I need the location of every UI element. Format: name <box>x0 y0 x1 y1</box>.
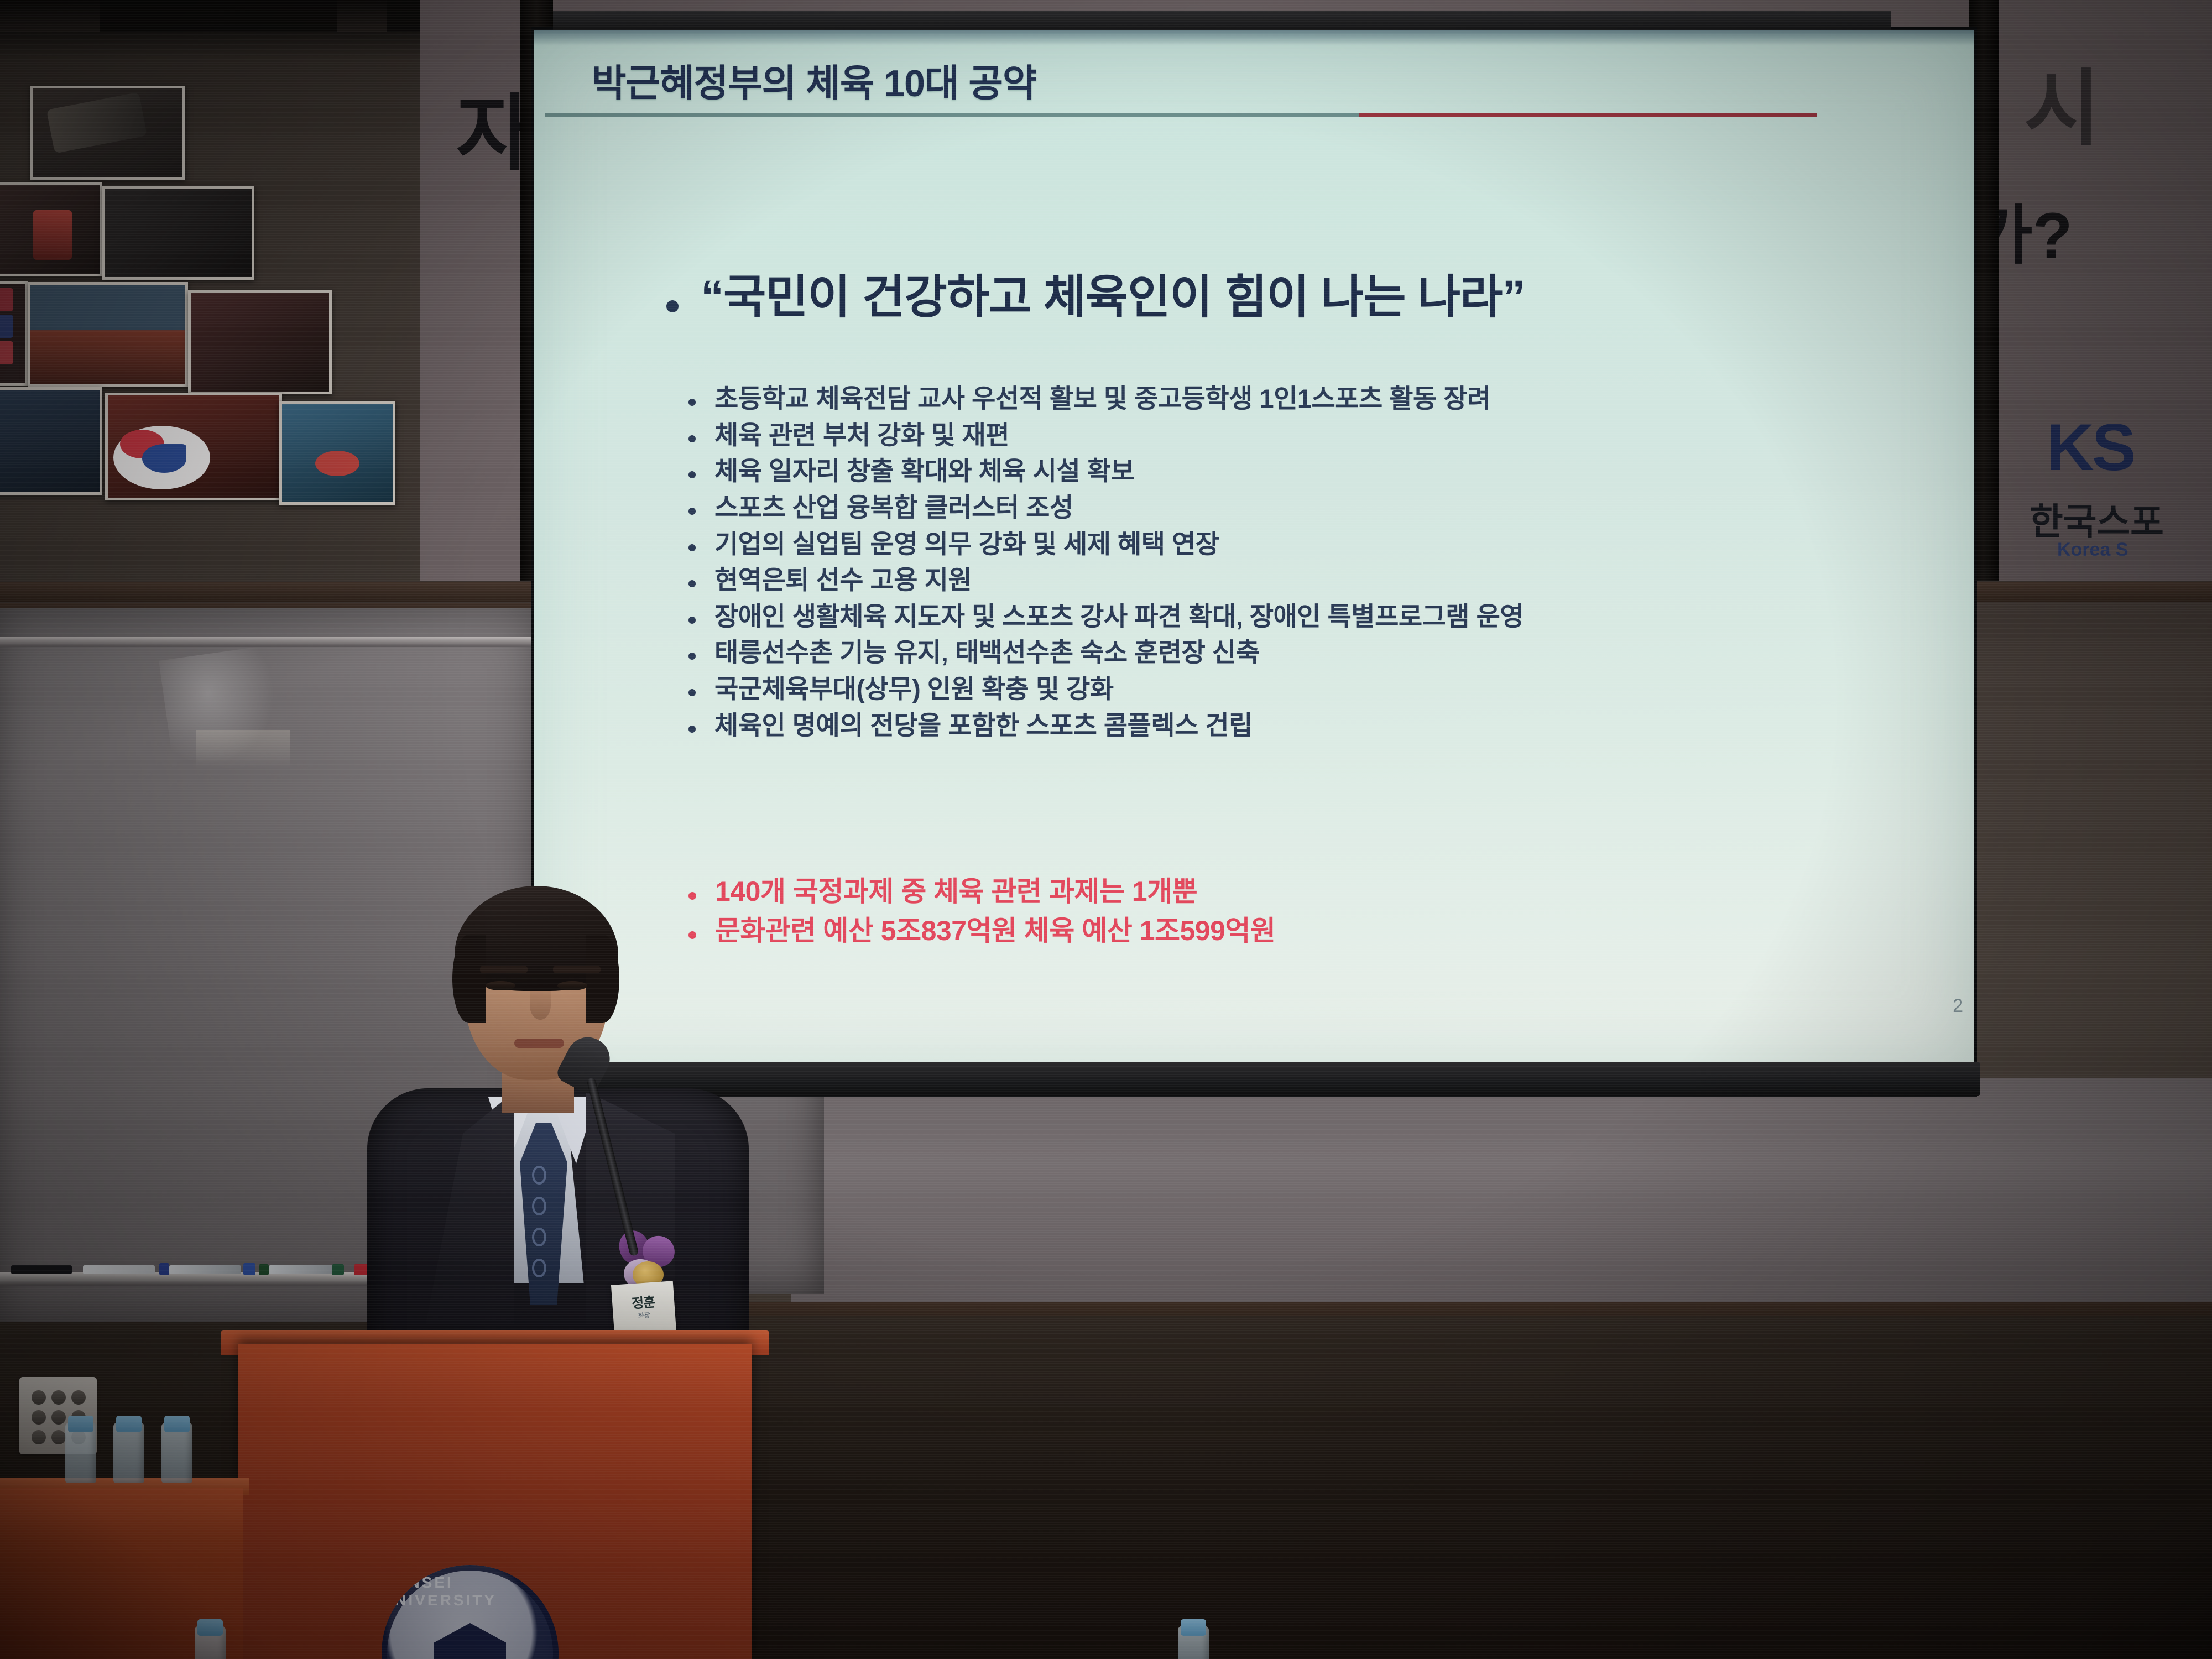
list-item: 태릉선수촌 기능 유지, 태백선수촌 숙소 훈련장 신축 <box>688 638 1960 667</box>
list-item: 장애인 생활체육 지도자 및 스포츠 강사 파견 확대, 장애인 특별프로그램 … <box>688 602 1960 632</box>
list-item: 체육 관련 부처 강화 및 재편 <box>688 421 1960 450</box>
slide-headline: “국민이 건강하고 체육인이 힘이 나는 나라” <box>701 274 1525 320</box>
bullet-text: 체육 관련 부처 강화 및 재편 <box>714 421 1009 450</box>
bullet-dot-icon <box>688 726 696 733</box>
collage-photo <box>0 281 28 386</box>
list-item: 체육 일자리 창출 확대와 체육 시설 확보 <box>688 457 1960 486</box>
switch-button[interactable] <box>51 1390 66 1405</box>
bottle-cap-icon <box>68 1416 93 1432</box>
eyebrow <box>480 966 528 973</box>
bullet-dot-icon <box>688 435 696 442</box>
list-item: 현역은퇴 선수 고용 지원 <box>688 566 1960 595</box>
slide-title-rule <box>545 113 1817 117</box>
bullet-dot-icon <box>688 580 696 587</box>
sponsor-name-ko: 한국스포 <box>2030 492 2164 545</box>
nose <box>530 991 551 1020</box>
bullet-text: 국군체육부대(상무) 인원 확충 및 강화 <box>714 675 1114 704</box>
bullet-dot-icon <box>688 617 696 624</box>
photo-collage-poster <box>0 77 387 520</box>
slide-page-number: 2 <box>1953 995 1963 1017</box>
black-marker-icon <box>11 1265 72 1274</box>
screen-roller <box>553 11 1891 33</box>
blue-marker-cap-icon <box>159 1263 169 1275</box>
podium-emblem: YONSEI UNIVERSITY <box>382 1565 559 1659</box>
switch-button[interactable] <box>71 1390 86 1405</box>
bullet-text: 스포츠 산업 융복합 클러스터 조성 <box>714 493 1073 523</box>
bottle-cap-icon <box>1181 1619 1206 1636</box>
collage-photo <box>105 393 282 500</box>
highlight-text: 140개 국정과제 중 체육 관련 과제는 1개뿐 <box>715 877 1197 907</box>
green-marker-body-icon <box>332 1264 344 1275</box>
bullet-text: 태릉선수촌 기능 유지, 태백선수촌 숙소 훈련장 신축 <box>714 638 1259 667</box>
bottle-cap-icon <box>164 1416 190 1432</box>
hair-side <box>452 935 486 1023</box>
lower-right-wall <box>791 1078 2212 1322</box>
bullet-dot-icon <box>688 508 696 515</box>
green-marker-icon <box>269 1265 335 1274</box>
bullet-dot-icon <box>688 544 696 551</box>
hair-side <box>586 935 619 1023</box>
bullet-text: 장애인 생활체육 지도자 및 스포츠 강사 파견 확대, 장애인 특별프로그램 … <box>714 602 1524 632</box>
eye <box>486 981 515 990</box>
bullet-text: 체육 일자리 창출 확대와 체육 시설 확보 <box>714 457 1134 486</box>
bullet-dot-icon <box>688 689 696 696</box>
whiteboard-top-rail <box>0 637 542 647</box>
whiteboard-glare <box>196 730 290 769</box>
bullet-dot-icon <box>688 471 696 478</box>
switch-button[interactable] <box>51 1430 66 1444</box>
whiteboard-eraser-icon <box>83 1265 155 1274</box>
list-item: 기업의 실업팀 운영 의무 강화 및 세제 혜택 연장 <box>688 530 1960 559</box>
list-item: 문화관련 예산 5조837억원 체육 예산 1조599억원 <box>688 916 1960 946</box>
sponsor-name-en: Korea S <box>2057 539 2128 561</box>
screenshot-stage: 자 학회 시 것인가? 할 - 인룸 KS 한국스포 Korea S <box>0 0 2212 1659</box>
bullet-text: 기업의 실업팀 운영 의무 강화 및 세제 혜택 연장 <box>714 530 1219 559</box>
eye <box>557 981 587 990</box>
bottle-cap-icon <box>116 1416 142 1432</box>
collage-photo <box>28 282 188 387</box>
sponsor-logo-icon: KS <box>2046 409 2134 486</box>
list-item: 초등학교 체육전담 교사 우선적 활보 및 중고등학생 1인1스포츠 활동 장려 <box>688 384 1960 414</box>
collage-photo <box>279 401 395 505</box>
bullet-text: 체육인 명예의 전당을 포함한 스포츠 콤플렉스 건립 <box>714 711 1253 740</box>
collage-photo <box>0 182 102 276</box>
headline-bullet-icon <box>666 300 679 312</box>
highlight-text: 문화관련 예산 5조837억원 체육 예산 1조599억원 <box>715 916 1275 946</box>
switch-button[interactable] <box>32 1430 46 1444</box>
bullet-text: 현역은퇴 선수 고용 지원 <box>714 566 972 595</box>
switch-button[interactable] <box>51 1410 66 1425</box>
collage-photo <box>102 186 254 280</box>
bullet-dot-icon <box>688 399 696 406</box>
slide-title: 박근혜정부의 체육 10대 공약 <box>592 53 1036 107</box>
list-item: 국군체육부대(상무) 인원 확충 및 강화 <box>688 675 1960 704</box>
eyebrow <box>553 966 601 973</box>
switch-button[interactable] <box>32 1390 46 1405</box>
blue-marker-body-icon <box>243 1263 255 1275</box>
name-badge: 정훈 좌장 <box>611 1281 676 1336</box>
collage-photo <box>30 86 185 180</box>
slide-bullet-list: 초등학교 체육전담 교사 우선적 활보 및 중고등학생 1인1스포츠 활동 장려… <box>688 384 1960 747</box>
list-item: 스포츠 산업 융복합 클러스터 조성 <box>688 493 1960 523</box>
switch-button[interactable] <box>32 1410 46 1425</box>
speaker: 정훈 좌장 <box>354 863 774 1360</box>
collage-photo <box>188 290 332 394</box>
list-item: 140개 국정과제 중 체육 관련 과제는 1개뿐 <box>688 877 1960 907</box>
collage-photo <box>0 387 102 495</box>
bottle-cap-icon <box>197 1619 223 1636</box>
bullet-dot-icon <box>688 653 696 660</box>
green-marker-cap-icon <box>259 1264 269 1275</box>
mouth <box>514 1039 564 1048</box>
blue-marker-icon <box>169 1265 241 1274</box>
slide-highlight-list: 140개 국정과제 중 체육 관련 과제는 1개뿐 문화관련 예산 5조837억… <box>688 877 1960 955</box>
slide-headline-row: “국민이 건강하고 체육인이 힘이 나는 나라” <box>666 274 1938 320</box>
list-item: 체육인 명예의 전당을 포함한 스포츠 콤플렉스 건립 <box>688 711 1960 740</box>
banner-text-si: 시 <box>2024 41 2100 161</box>
bullet-text: 초등학교 체육전담 교사 우선적 활보 및 중고등학생 1인1스포츠 활동 장려 <box>714 384 1491 414</box>
